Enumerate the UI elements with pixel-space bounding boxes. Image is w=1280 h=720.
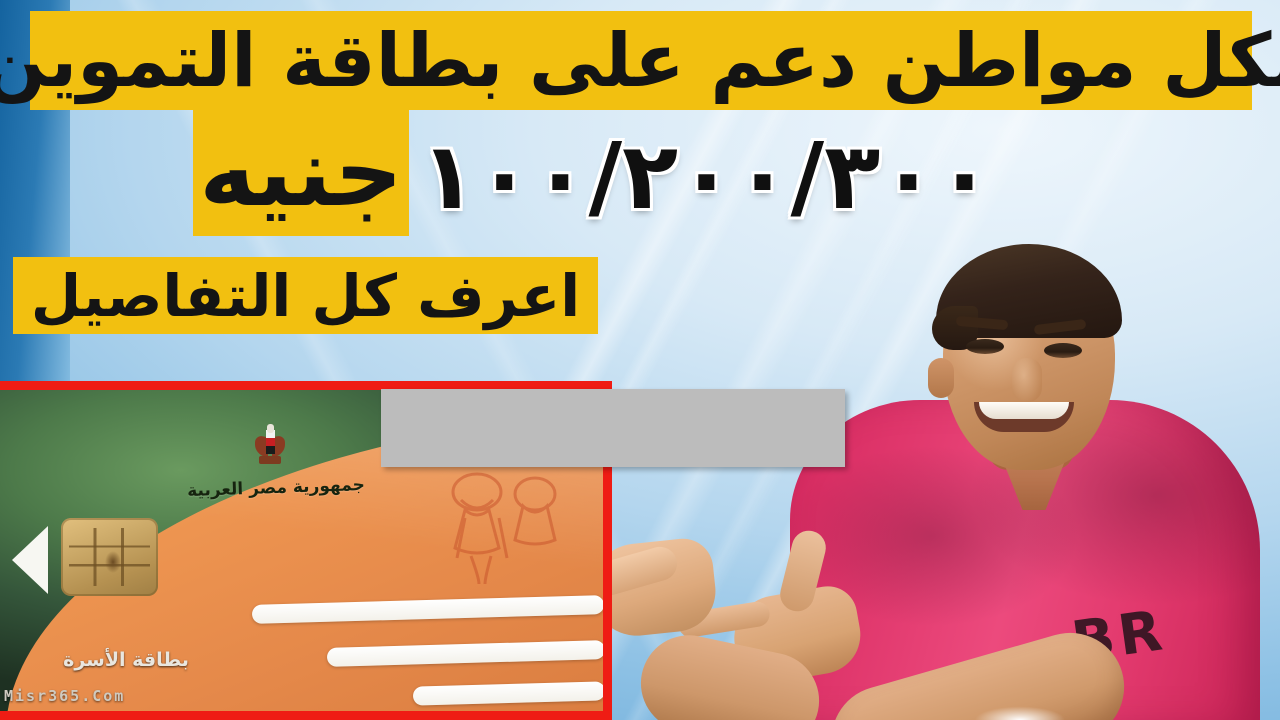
play-triangle-icon [12, 526, 48, 594]
amount-value: ١٠٠/٢٠٠/٣٠٠ [420, 122, 940, 230]
presenter-bottom-highlight [960, 702, 1080, 720]
children-illustration-icon [425, 470, 575, 590]
emblem-shield [266, 430, 275, 454]
headline-banner-line1: لكل مواطن دعم على بطاقة التموين [30, 11, 1252, 110]
headline-banner-line3: اعرف كل التفاصيل [13, 257, 598, 334]
smart-card-chip-icon [61, 518, 158, 596]
presenter-smiling-mouth [974, 402, 1074, 432]
presenter-eye-right [966, 339, 1004, 354]
emblem-head [267, 424, 274, 433]
card-title-text: بطاقة الأسرة [26, 649, 226, 671]
presenter-nose [1012, 358, 1042, 402]
thumbnail-canvas: BR لكل مواطن دعم على بطاقة التموين ١٠٠/٢… [0, 0, 1280, 720]
presenter-eye-left [1044, 343, 1082, 358]
emblem-base [259, 456, 281, 464]
currency-label-banner: جنيه [193, 110, 409, 236]
presenter-ear [928, 358, 954, 398]
presenter-teeth [979, 402, 1069, 419]
redaction-bar [381, 389, 845, 467]
egypt-eagle-emblem-icon [255, 424, 285, 466]
source-watermark: Misr365.Com [4, 687, 125, 705]
